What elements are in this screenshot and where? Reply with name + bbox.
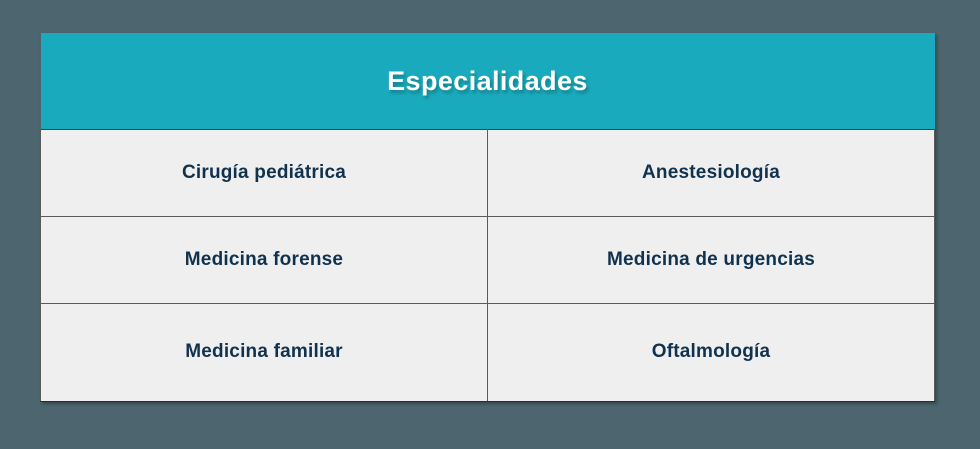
table-row: Medicina forense Medicina de urgencias [41,217,935,304]
table-header: Especialidades [41,33,935,130]
specialties-table: Especialidades Cirugía pediátrica Aneste… [40,33,935,402]
table-header-row: Especialidades [41,33,935,130]
table-row: Medicina familiar Oftalmología [41,304,935,402]
specialty-cell[interactable]: Medicina familiar [41,304,488,402]
specialty-label: Medicina familiar [59,341,469,364]
specialty-label: Medicina forense [59,249,469,272]
specialty-label: Cirugía pediátrica [59,162,469,185]
specialty-cell[interactable]: Cirugía pediátrica [41,130,488,217]
page-canvas: Especialidades Cirugía pediátrica Aneste… [0,0,980,449]
specialty-cell[interactable]: Anestesiología [488,130,935,217]
specialty-cell[interactable]: Oftalmología [488,304,935,402]
table-row: Cirugía pediátrica Anestesiología [41,130,935,217]
specialty-cell[interactable]: Medicina de urgencias [488,217,935,304]
table-header-cell: Especialidades [41,33,935,130]
specialty-label: Medicina de urgencias [506,249,916,272]
specialty-label: Anestesiología [506,162,916,185]
specialty-cell[interactable]: Medicina forense [41,217,488,304]
table-title: Especialidades [41,66,935,97]
table-body: Cirugía pediátrica Anestesiología Medici… [41,130,935,402]
specialty-label: Oftalmología [506,341,916,364]
